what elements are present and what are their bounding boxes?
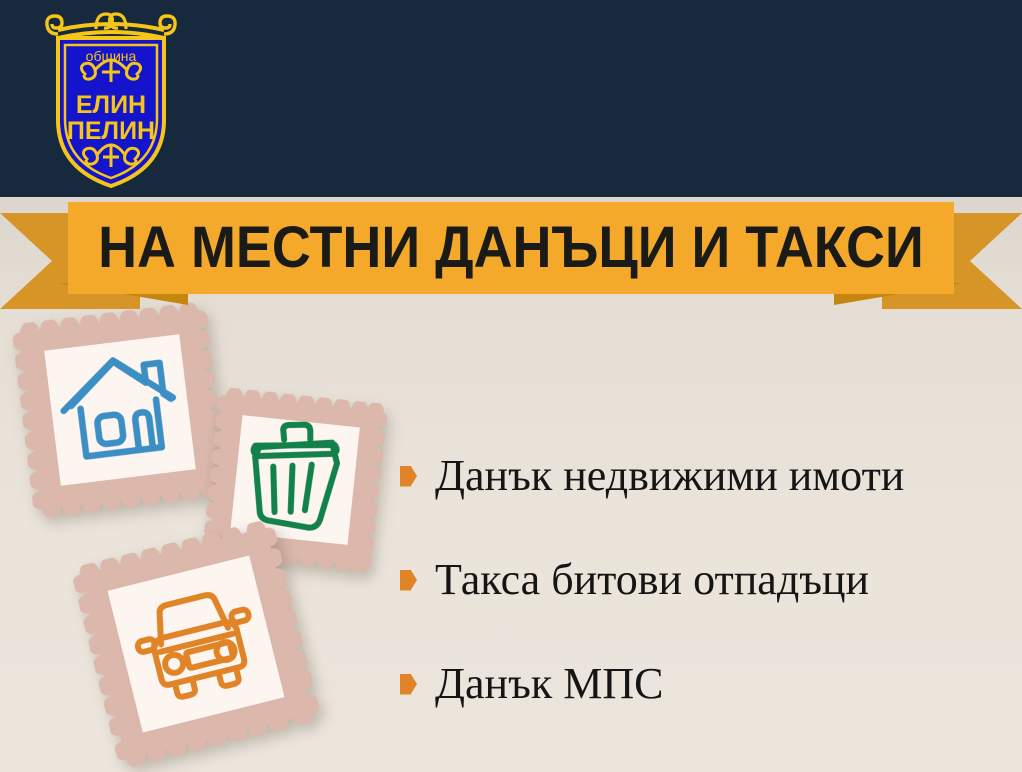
list-item-label: Такса битови отпадъци <box>435 557 869 603</box>
crest-name-line1: ЕЛИН <box>76 91 146 119</box>
ribbon-subtitle: НА МЕСТНИ ДАНЪЦИ И ТАКСИ <box>98 219 924 277</box>
municipality-crest-logo: община ЕЛИН ПЕЛИН <box>40 8 182 190</box>
list-item[interactable]: Данък МПС <box>400 632 1012 736</box>
arrow-bullet-icon <box>400 674 417 695</box>
stamp-card-house <box>11 301 229 519</box>
crest-name-line2: ПЕЛИН <box>67 117 155 145</box>
ribbon-main-panel: НА МЕСТНИ ДАНЪЦИ И ТАКСИ <box>68 202 954 294</box>
tax-type-list: Данък недвижими имоти Такса битови отпад… <box>400 424 1012 736</box>
arrow-bullet-icon <box>400 466 417 487</box>
arrow-bullet-icon <box>400 570 417 591</box>
list-item[interactable]: Такса битови отпадъци <box>400 528 1012 632</box>
list-item[interactable]: Данък недвижими имоти <box>400 424 1012 528</box>
list-item-label: Данък недвижими имоти <box>435 453 904 499</box>
list-item-label: Данък МПС <box>435 661 663 707</box>
poster-canvas: ПРОВЕРКА И ПЛАЩАНЕ НА ЗАДЪЛЖЕНИЯ община <box>0 0 1022 772</box>
